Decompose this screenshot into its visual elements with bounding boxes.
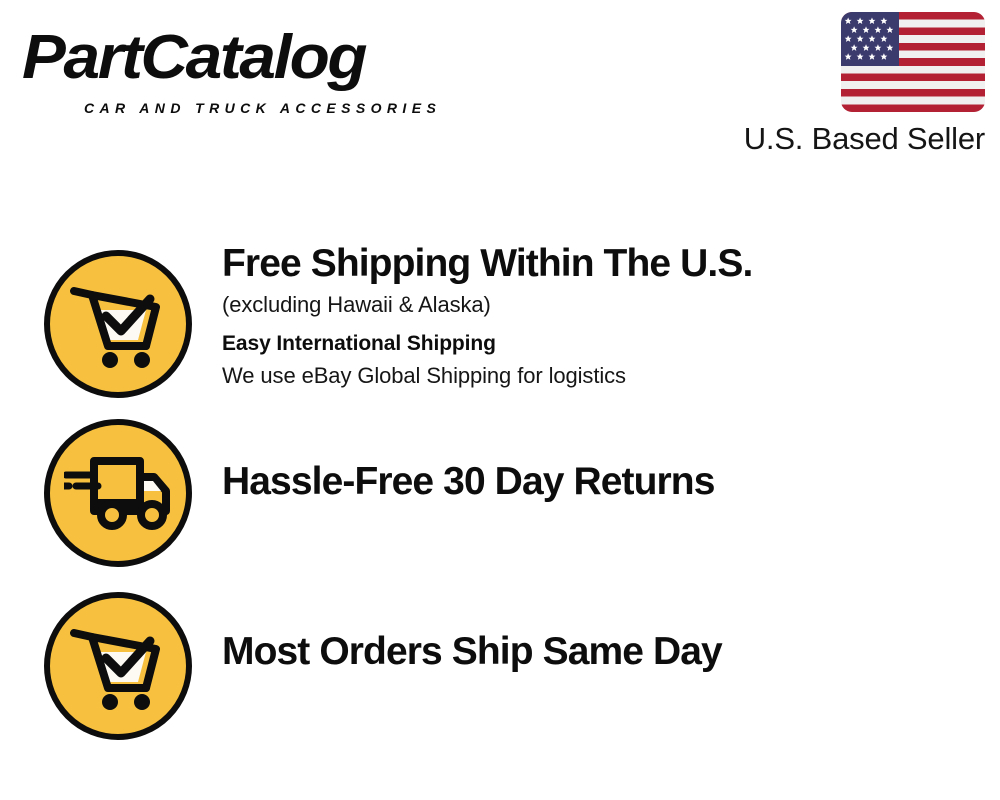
feature-title: Free Shipping Within The U.S. — [222, 240, 990, 288]
feature-subtitle: (excluding Hawaii & Alaska) — [222, 288, 990, 322]
feature-row: Free Shipping Within The U.S. (excluding… — [0, 240, 1000, 420]
shopping-cart-check-icon — [44, 592, 192, 740]
brand-tagline: CAR AND TRUCK ACCESSORIES — [84, 100, 441, 116]
feature-sub-detail: We use eBay Global Shipping for logistic… — [222, 360, 990, 392]
page-header: PartCatalog CAR AND TRUCK ACCESSORIES — [0, 0, 1000, 170]
feature-text-block: Free Shipping Within The U.S. (excluding… — [222, 240, 990, 392]
feature-sub-heading: Easy International Shipping — [222, 328, 990, 360]
feature-text-block: Hassle-Free 30 Day Returns — [222, 458, 990, 506]
feature-row: Hassle-Free 30 Day Returns — [0, 410, 1000, 582]
us-flag-icon — [841, 12, 985, 112]
feature-text-block: Most Orders Ship Same Day — [222, 628, 990, 676]
feature-title: Most Orders Ship Same Day — [222, 628, 990, 676]
flag-canton — [841, 12, 899, 66]
delivery-truck-icon — [44, 419, 192, 567]
us-based-seller-badge: U.S. Based Seller — [725, 10, 985, 160]
us-based-seller-label: U.S. Based Seller — [744, 120, 985, 158]
feature-row: Most Orders Ship Same Day — [0, 582, 1000, 754]
feature-title: Hassle-Free 30 Day Returns — [222, 458, 990, 506]
shopping-cart-check-icon — [44, 250, 192, 398]
brand-logo[interactable]: PartCatalog CAR AND TRUCK ACCESSORIES — [22, 22, 492, 112]
brand-wordmark: PartCatalog — [22, 22, 365, 94]
